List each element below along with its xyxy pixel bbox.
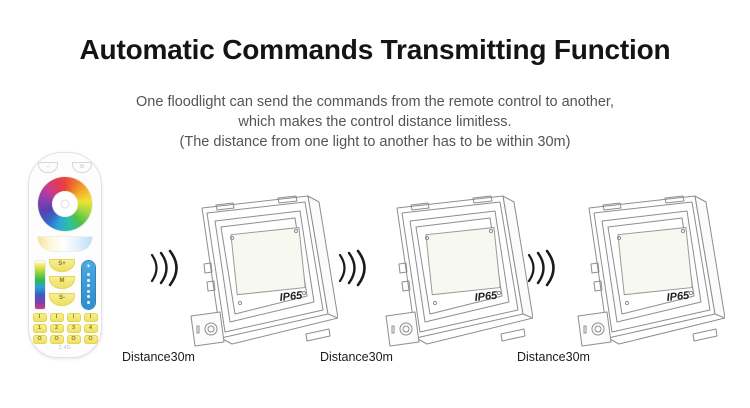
floodlight-3: IP65 bbox=[575, 186, 725, 351]
zone-2-off-button[interactable]: O bbox=[50, 335, 64, 344]
power-icon[interactable]: ⏻ bbox=[72, 162, 92, 173]
zone-4-on-button[interactable]: I bbox=[84, 313, 98, 322]
floodlight-1-ip-label: IP65 bbox=[279, 290, 304, 304]
zone-4-off-button[interactable]: O bbox=[84, 335, 98, 344]
mode-button-group: S+ M S- bbox=[49, 259, 79, 310]
zone-button-grid: I 1 O I 2 O I 3 O I 4 O bbox=[29, 313, 101, 346]
cct-bar[interactable] bbox=[37, 236, 93, 252]
floodlight-1: IP65 bbox=[188, 186, 338, 351]
remote-control[interactable]: – ⏻ S+ M S- ☀ bbox=[28, 152, 102, 358]
color-wheel[interactable] bbox=[38, 177, 92, 231]
floodlight-3-ip-label: IP65 bbox=[666, 290, 691, 304]
brightness-dot bbox=[87, 273, 90, 276]
page-subtitle: One floodlight can send the commands fro… bbox=[0, 92, 750, 152]
brightness-dots bbox=[87, 273, 90, 304]
slide-canvas: Automatic Commands Transmitting Function… bbox=[0, 0, 750, 408]
signal-waves-2 bbox=[334, 245, 380, 291]
zone-column-1: I 1 O bbox=[33, 313, 47, 346]
floodlight-2: IP65 bbox=[383, 186, 533, 351]
brightness-dot bbox=[87, 301, 90, 304]
signal-waves-1 bbox=[146, 245, 192, 291]
zone-1-on-button[interactable]: I bbox=[33, 313, 47, 322]
brightness-dot bbox=[87, 279, 90, 282]
remote-top-button-1-label: – bbox=[39, 164, 57, 170]
zone-3-number-button[interactable]: 3 bbox=[67, 324, 81, 333]
subtitle-line-2: which makes the control distance limitle… bbox=[0, 112, 750, 132]
zone-2-number-button[interactable]: 2 bbox=[50, 324, 64, 333]
sun-icon: ☀ bbox=[86, 264, 91, 270]
zone-3-off-button[interactable]: O bbox=[67, 335, 81, 344]
zone-4-number-button[interactable]: 4 bbox=[84, 324, 98, 333]
page-title: Automatic Commands Transmitting Function bbox=[0, 34, 750, 66]
zone-column-4: I 4 O bbox=[84, 313, 98, 346]
distance-label-2: Distance30m bbox=[320, 350, 393, 364]
signal-waves-3 bbox=[523, 245, 569, 291]
remote-top-button-row: – ⏻ bbox=[29, 162, 101, 173]
brightness-dot bbox=[87, 295, 90, 298]
color-wheel-center-dot[interactable] bbox=[61, 200, 70, 209]
brightness-slider[interactable]: ☀ bbox=[82, 261, 95, 309]
remote-top-button-2-label: ⏻ bbox=[73, 164, 91, 170]
subtitle-line-3: (The distance from one light to another … bbox=[0, 132, 750, 152]
zone-3-on-button[interactable]: I bbox=[67, 313, 81, 322]
saturation-bar[interactable] bbox=[35, 261, 45, 309]
zone-1-number-button[interactable]: 1 bbox=[33, 324, 47, 333]
speed-up-button[interactable]: S+ bbox=[49, 259, 75, 272]
mode-button[interactable]: M bbox=[49, 276, 75, 289]
minus-icon[interactable]: – bbox=[38, 162, 58, 173]
subtitle-line-1: One floodlight can send the commands fro… bbox=[0, 92, 750, 112]
remote-brand-label: 2.4G bbox=[29, 345, 101, 351]
zone-1-off-button[interactable]: O bbox=[33, 335, 47, 344]
distance-label-1: Distance30m bbox=[122, 350, 195, 364]
zone-column-3: I 3 O bbox=[67, 313, 81, 346]
distance-label-3: Distance30m bbox=[517, 350, 590, 364]
brightness-dot bbox=[87, 284, 90, 287]
zone-2-on-button[interactable]: I bbox=[50, 313, 64, 322]
brightness-dot bbox=[87, 290, 90, 293]
floodlight-2-ip-label: IP65 bbox=[474, 290, 499, 304]
speed-down-button[interactable]: S- bbox=[49, 293, 75, 306]
zone-column-2: I 2 O bbox=[50, 313, 64, 346]
remote-middle-row: S+ M S- ☀ bbox=[29, 259, 101, 311]
